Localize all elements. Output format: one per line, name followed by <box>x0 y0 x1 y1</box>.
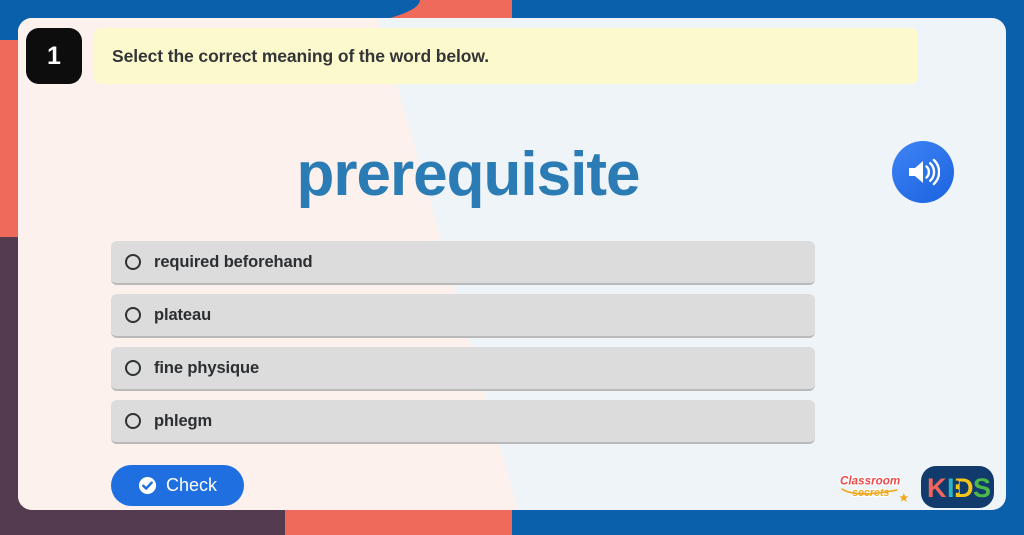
smiley-eye-icon <box>955 489 959 493</box>
check-answer-button[interactable]: Check <box>111 465 244 506</box>
classroom-wordmark: Classroom <box>840 474 900 487</box>
word-area: prerequisite <box>18 114 1006 236</box>
target-word: prerequisite <box>18 114 918 236</box>
activity-card: 1 Select the correct meaning of the word… <box>18 18 1006 510</box>
instruction-banner: Select the correct meaning of the word b… <box>94 28 918 84</box>
answer-option-label: required beforehand <box>154 253 313 272</box>
kids-letter-k: K <box>927 473 947 503</box>
answer-option-label: plateau <box>154 306 211 325</box>
answer-options-list: required beforehand plateau fine physiqu… <box>111 241 815 453</box>
kids-letter-s: S <box>973 473 991 503</box>
classroom-secrets-logo: Classroom Classroom secrets secrets <box>839 470 915 504</box>
answer-option[interactable]: plateau <box>111 294 815 338</box>
smiley-eye-icon <box>955 481 959 485</box>
radio-button-icon[interactable] <box>125 254 141 270</box>
kids-letter-d: D <box>954 473 974 503</box>
kids-letter-i: I <box>947 473 955 503</box>
radio-button-icon[interactable] <box>125 413 141 429</box>
branding-logos: Classroom Classroom secrets secrets K I … <box>839 466 994 508</box>
answer-option-label: phlegm <box>154 412 212 431</box>
kids-logo: K I D S <box>921 466 994 508</box>
lesson-screen: 1 Select the correct meaning of the word… <box>0 0 1024 535</box>
radio-button-icon[interactable] <box>125 360 141 376</box>
answer-option-label: fine physique <box>154 359 259 378</box>
audio-play-button[interactable] <box>892 141 954 203</box>
speaker-icon <box>906 157 940 187</box>
instruction-text: Select the correct meaning of the word b… <box>112 46 489 67</box>
question-number-badge: 1 <box>26 28 82 84</box>
answer-option[interactable]: phlegm <box>111 400 815 444</box>
check-circle-icon <box>138 476 157 495</box>
answer-option[interactable]: required beforehand <box>111 241 815 285</box>
answer-option[interactable]: fine physique <box>111 347 815 391</box>
question-header: 1 Select the correct meaning of the word… <box>18 18 1006 88</box>
check-button-label: Check <box>166 475 217 496</box>
star-icon <box>899 493 908 502</box>
radio-button-icon[interactable] <box>125 307 141 323</box>
